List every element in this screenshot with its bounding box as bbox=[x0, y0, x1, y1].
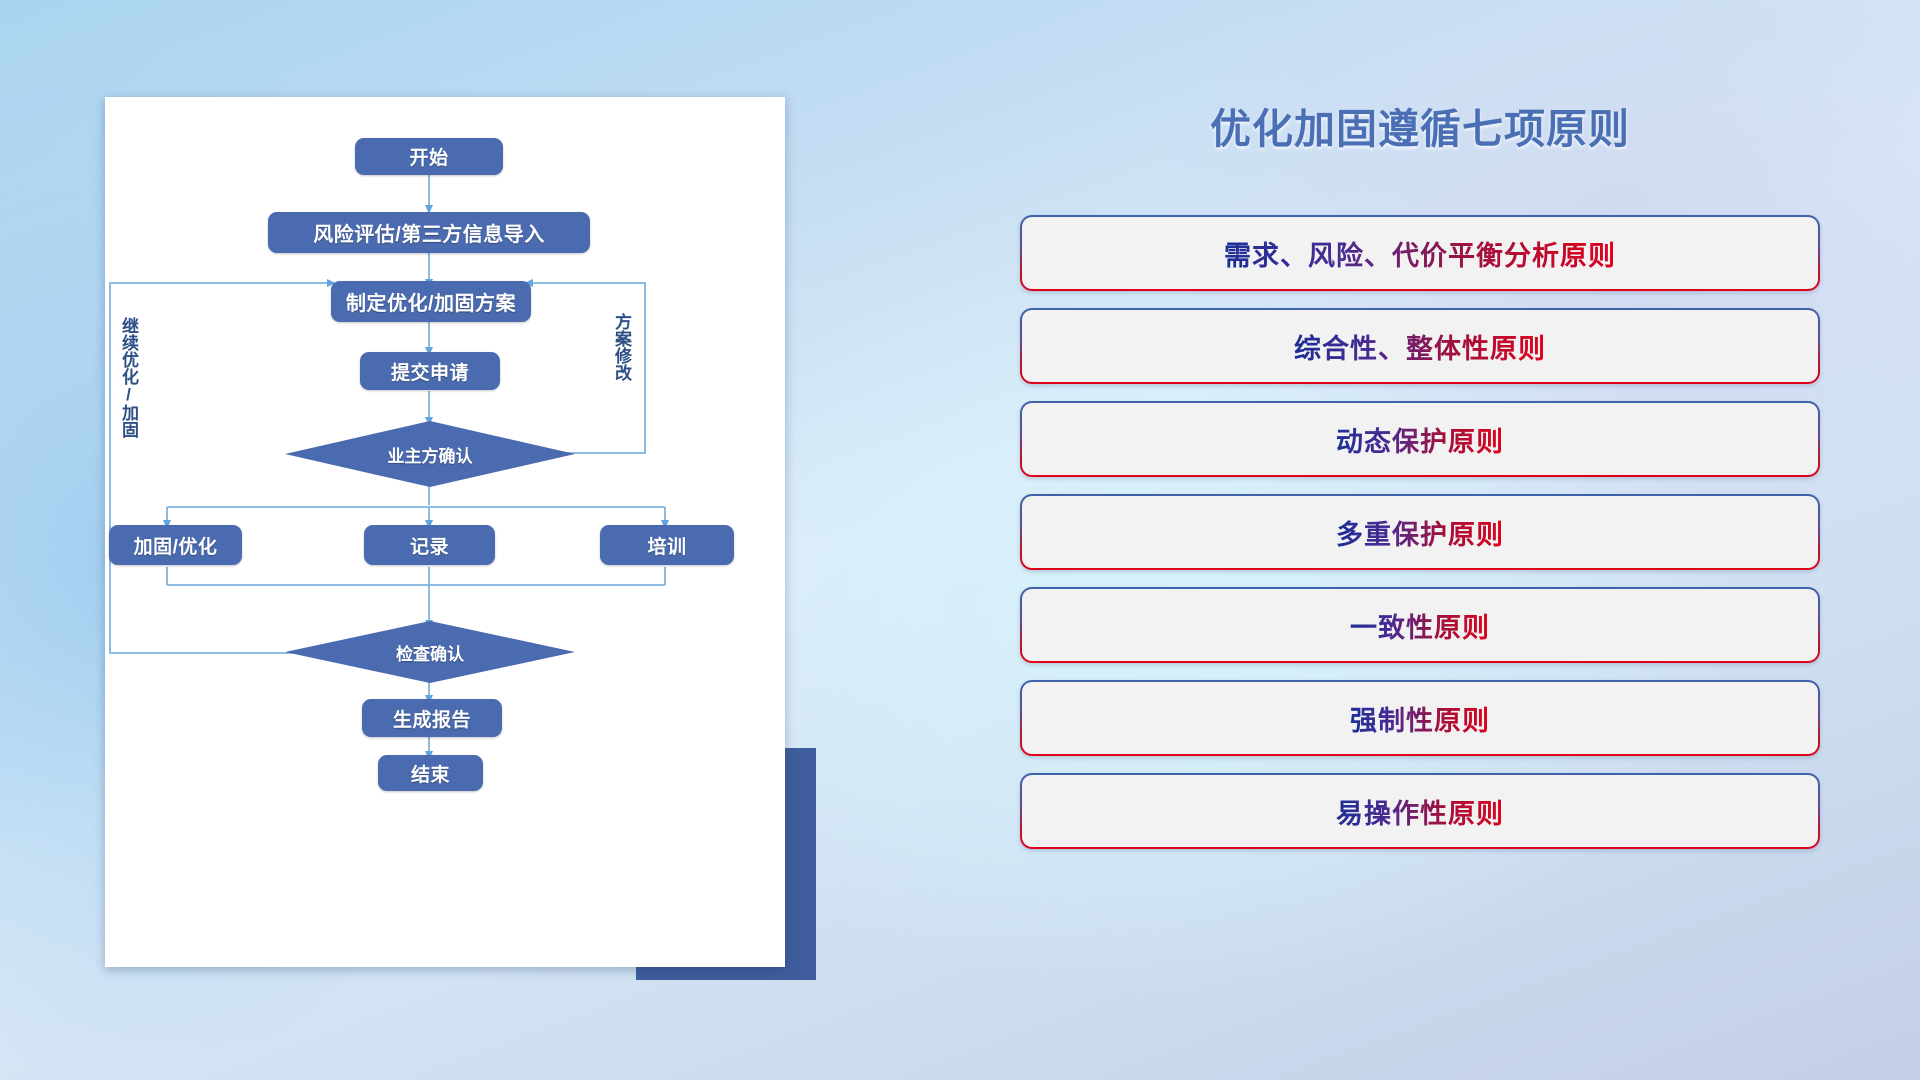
principle-label: 动态保护原则 bbox=[1336, 420, 1504, 459]
principle-item[interactable]: 多重保护原则 bbox=[1020, 494, 1820, 570]
flow-node-generate-report[interactable]: 生成报告 bbox=[362, 699, 502, 737]
flow-node-submit-application[interactable]: 提交申请 bbox=[360, 352, 500, 390]
flow-node-owner-confirm[interactable]: 业主方确认 bbox=[285, 421, 575, 487]
principle-item[interactable]: 一致性原则 bbox=[1020, 587, 1820, 663]
principle-item[interactable]: 强制性原则 bbox=[1020, 680, 1820, 756]
flow-node-training[interactable]: 培训 bbox=[600, 525, 734, 565]
flow-node-start[interactable]: 开始 bbox=[355, 138, 503, 175]
principle-inner: 易操作性原则 bbox=[1022, 775, 1818, 847]
principle-inner: 综合性、整体性原则 bbox=[1022, 310, 1818, 382]
flow-node-check-confirm[interactable]: 检查确认 bbox=[285, 621, 575, 683]
principle-label: 综合性、整体性原则 bbox=[1294, 327, 1546, 366]
principle-item[interactable]: 需求、风险、代价平衡分析原则 bbox=[1020, 215, 1820, 291]
flow-node-label: 提交申请 bbox=[391, 358, 469, 385]
flow-node-label: 检查确认 bbox=[396, 640, 464, 665]
flow-node-label: 生成报告 bbox=[393, 705, 471, 732]
principle-inner: 多重保护原则 bbox=[1022, 496, 1818, 568]
flow-node-label: 结束 bbox=[411, 760, 450, 787]
principle-inner: 动态保护原则 bbox=[1022, 403, 1818, 475]
principle-item[interactable]: 综合性、整体性原则 bbox=[1020, 308, 1820, 384]
flow-node-risk-assessment[interactable]: 风险评估/第三方信息导入 bbox=[268, 212, 590, 253]
flow-node-label: 加固/优化 bbox=[134, 532, 218, 559]
panel-title: 优化加固遵循七项原则 bbox=[1020, 95, 1820, 155]
flow-node-plan[interactable]: 制定优化/加固方案 bbox=[331, 281, 531, 322]
principle-label: 易操作性原则 bbox=[1336, 792, 1504, 831]
edge-label-continue-optimize: 继续优化/加固 bbox=[119, 317, 138, 438]
slide-canvas: 开始 风险评估/第三方信息导入 制定优化/加固方案 提交申请 业主方确认 加固/… bbox=[0, 0, 1920, 1080]
principle-inner: 强制性原则 bbox=[1022, 682, 1818, 754]
flowchart: 开始 风险评估/第三方信息导入 制定优化/加固方案 提交申请 业主方确认 加固/… bbox=[105, 97, 785, 967]
flow-node-label: 记录 bbox=[410, 532, 449, 559]
principle-label: 需求、风险、代价平衡分析原则 bbox=[1224, 234, 1616, 273]
principle-inner: 一致性原则 bbox=[1022, 589, 1818, 661]
edge-label-plan-revision: 方案修改 bbox=[612, 313, 631, 381]
principle-item[interactable]: 易操作性原则 bbox=[1020, 773, 1820, 849]
flow-node-label: 业主方确认 bbox=[388, 442, 473, 467]
flow-node-label: 开始 bbox=[409, 143, 448, 170]
principles-list: 需求、风险、代价平衡分析原则 综合性、整体性原则 动态保护原则 多重保护原则 bbox=[1020, 215, 1820, 866]
principle-inner: 需求、风险、代价平衡分析原则 bbox=[1022, 217, 1818, 289]
principles-panel: 优化加固遵循七项原则 需求、风险、代价平衡分析原则 综合性、整体性原则 动态保护… bbox=[1020, 95, 1820, 995]
principle-label: 多重保护原则 bbox=[1336, 513, 1504, 552]
principle-label: 强制性原则 bbox=[1350, 699, 1490, 738]
flow-node-reinforce[interactable]: 加固/优化 bbox=[109, 525, 242, 565]
flow-node-label: 培训 bbox=[647, 532, 686, 559]
flow-node-end[interactable]: 结束 bbox=[378, 755, 483, 791]
flow-node-label: 制定优化/加固方案 bbox=[346, 287, 516, 316]
flow-node-label: 风险评估/第三方信息导入 bbox=[313, 218, 545, 247]
flow-node-record[interactable]: 记录 bbox=[364, 525, 495, 565]
principle-label: 一致性原则 bbox=[1350, 606, 1490, 645]
principle-item[interactable]: 动态保护原则 bbox=[1020, 401, 1820, 477]
